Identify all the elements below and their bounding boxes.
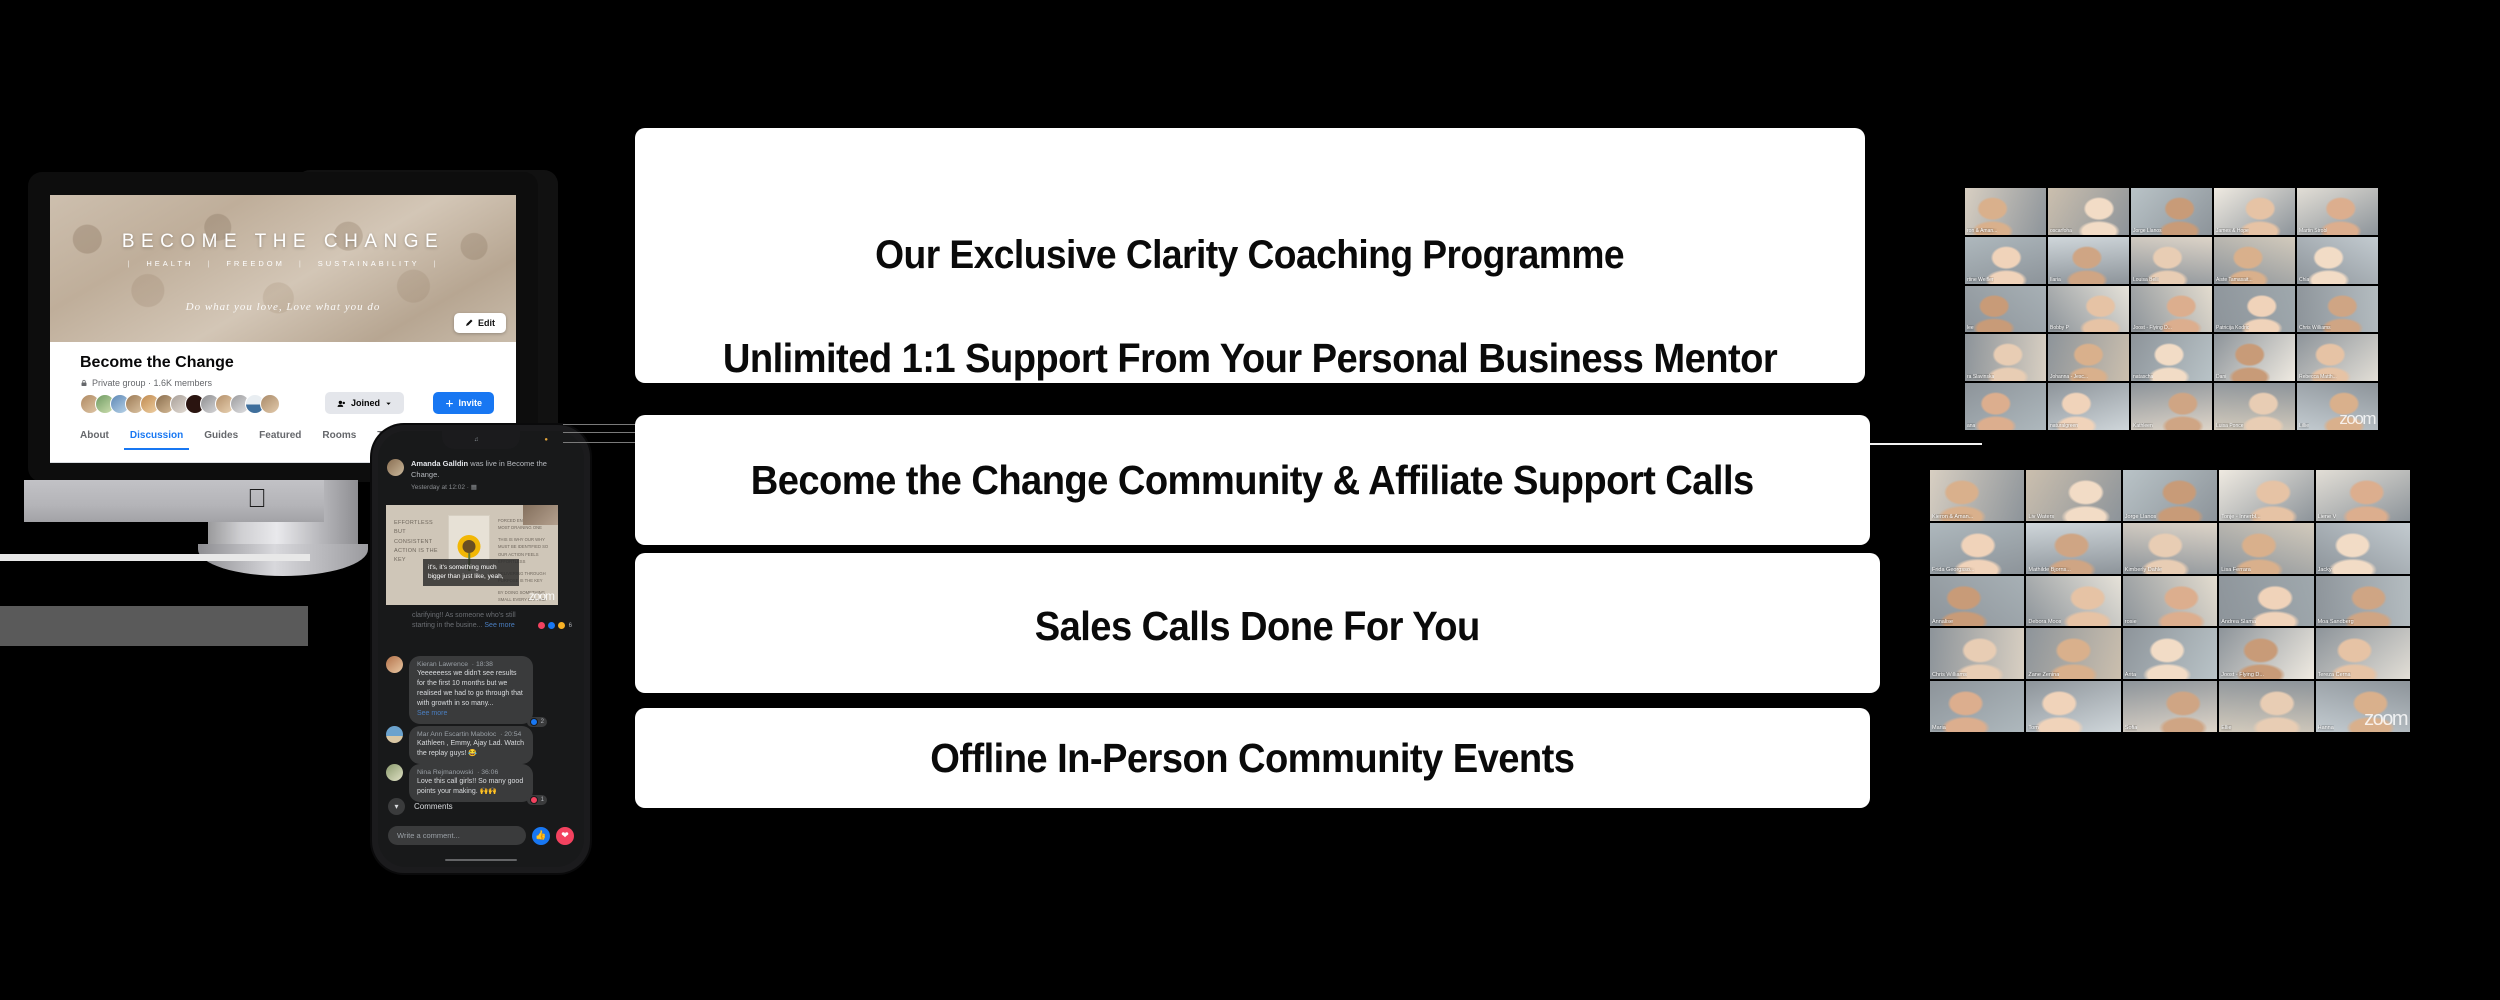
like-reaction-icon <box>547 621 556 630</box>
feature-card-clarity-coaching[interactable]: Our Exclusive Clarity Coaching Programme <box>635 128 1865 383</box>
thumbs-up-icon <box>530 718 538 726</box>
comment-time: 20:54 <box>504 731 521 738</box>
love-reaction-icon <box>537 621 546 630</box>
zoom-participant-tile[interactable]: Johanna - Jesc... <box>2048 334 2129 381</box>
group-meta: Private group · 1.6K members <box>80 378 212 388</box>
group-cover-photo: BECOME THE CHANGE | HEALTH | FREEDOM | S… <box>50 195 516 342</box>
pillar-sustainability: SUSTAINABILITY <box>318 259 420 268</box>
reaction-count: 1 <box>541 797 544 803</box>
feature-title: Become the Change Community & Affiliate … <box>751 457 1754 504</box>
participant-name: Tereza Cerna <box>2318 672 2351 678</box>
participant-name: Maria <box>1932 725 1946 731</box>
zoom-participant-tile[interactable]: Martin Strobl <box>2297 188 2378 235</box>
status-icon: ♫ <box>474 437 479 443</box>
member-avatars[interactable] <box>80 394 280 414</box>
zoom-participant-tile[interactable]: Joost - Flying D... <box>2219 628 2313 679</box>
zoom-participant-tile[interactable]: Frida Georgsso... <box>1930 523 2024 574</box>
participant-name: Ilaria <box>2050 277 2061 283</box>
participant-name: Ellie <box>2221 725 2231 731</box>
comment-author[interactable]: Kieran Lawrence · 18:38 <box>417 661 525 668</box>
zoom-participant-tile[interactable]: oscarfoha <box>2048 188 2129 235</box>
comment-author[interactable]: Mar Ann Escartin Maboloc · 20:54 <box>417 731 525 738</box>
phone-screen: ♫ ● Amanda Galldin was live in Become th… <box>378 431 584 867</box>
zoom-participant-tile[interactable]: Moa Sandberg <box>2316 576 2410 627</box>
comment-avatar[interactable] <box>386 726 403 743</box>
comment-bubble[interactable]: Nina Rejmanowski · 36:06 Love this call … <box>409 764 533 802</box>
reaction-count: 2 <box>541 719 544 725</box>
participant-name: Jacky <box>2318 567 2332 573</box>
participant-name: ron & Aman... <box>1967 228 1997 234</box>
zoom-participant-tile[interactable]: Bobby P <box>2048 286 2129 333</box>
connector-line <box>563 442 638 443</box>
desk-surface-line <box>0 554 310 561</box>
participant-name: Zane Zenina <box>2028 672 2059 678</box>
faded-reactions[interactable]: 6 <box>537 621 572 630</box>
participant-name: rtine Welfler <box>1967 277 1994 283</box>
participant-name: Andrea Slama <box>2221 619 2256 625</box>
imac-screen: BECOME THE CHANGE | HEALTH | FREEDOM | S… <box>50 195 516 463</box>
post-timestamp: Yesterday at 12:02 · ▦ <box>411 483 575 491</box>
participant-name: Luisa Ponce <box>2216 423 2244 429</box>
zoom-gallery-top[interactable]: ron & Aman...oscarfohaJorge LlanosJames … <box>1965 188 2378 430</box>
participant-name: Louisa Belli <box>2133 277 2159 283</box>
plus-icon <box>445 399 454 408</box>
zoom-participant-tile[interactable]: Liv Waters <box>2026 470 2120 521</box>
pip-label <box>524 521 525 525</box>
pillar-freedom: FREEDOM <box>226 259 285 268</box>
zoom-participant-tile[interactable]: Tom <box>2026 681 2120 732</box>
participant-video <box>1965 383 2046 430</box>
participant-name: Aiste Tamasait... <box>2216 277 2253 283</box>
comment-time: 18:38 <box>476 661 493 668</box>
zoom-participant-tile[interactable]: Kathleen <box>2131 383 2212 430</box>
zoom-participant-tile[interactable]: Chla <box>2297 237 2378 284</box>
care-reaction-icon <box>557 621 566 630</box>
participant-video <box>2123 576 2217 627</box>
participant-name: Annalise <box>1932 619 1953 625</box>
zoom-participant-tile[interactable]: Joost - Flying D... <box>2131 286 2212 333</box>
participant-video <box>2026 681 2120 732</box>
zoom-participant-tile[interactable]: Jorge Llanos <box>2131 188 2212 235</box>
thumbs-up-button[interactable]: 👍 <box>532 827 550 845</box>
participant-name: Chris Williams <box>2299 325 2331 331</box>
cover-title: BECOME THE CHANGE <box>50 231 516 253</box>
comment-author-name: Mar Ann Escartin Maboloc <box>417 731 496 738</box>
comment-item: Mar Ann Escartin Maboloc · 20:54 Kathlee… <box>386 726 533 764</box>
joined-button[interactable]: Joined <box>325 392 404 414</box>
comment-bubble[interactable]: Kieran Lawrence · 18:38 Yeeeeeess we did… <box>409 656 533 724</box>
invite-button[interactable]: Invite <box>433 392 494 414</box>
zoom-participant-tile[interactable]: naturalgreen <box>2048 383 2129 430</box>
edit-cover-button[interactable]: Edit <box>454 313 506 333</box>
comments-label: Comments <box>414 802 453 811</box>
zoom-participant-tile[interactable]: natascha <box>2131 334 2212 381</box>
comment-avatar[interactable] <box>386 764 403 781</box>
participant-name: Liv Waters <box>2028 514 2054 520</box>
participant-name: Chla <box>2299 277 2309 283</box>
zoom-participant-tile[interactable]: Lisa Ferrara <box>2219 523 2313 574</box>
zoom-participant-tile[interactable]: Zane Zenina <box>2026 628 2120 679</box>
apple-logo:  <box>247 487 267 511</box>
participant-name: Mathilde Bjorns... <box>2028 567 2071 573</box>
heart-button[interactable]: ❤ <box>556 827 574 845</box>
participant-name: naturalgreen <box>2050 423 2078 429</box>
zoom-participant-tile[interactable]: Annalise <box>1930 576 2024 627</box>
participant-name: Patricija Kodric <box>2216 325 2249 331</box>
zoom-participant-tile[interactable]: Ilaria <box>2048 237 2129 284</box>
canvas: BECOME THE CHANGE | HEALTH | FREEDOM | S… <box>0 0 2500 1000</box>
participant-video <box>2123 628 2217 679</box>
zoom-participant-tile[interactable]: Ellie <box>2219 681 2313 732</box>
tab-rooms[interactable]: Rooms <box>322 430 356 450</box>
zoom-participant-tile[interactable]: Tereza Cerna <box>2316 628 2410 679</box>
zoom-participant-tile[interactable]: Luisa Ponce <box>2214 383 2295 430</box>
joined-label: Joined <box>351 398 380 408</box>
avatar <box>260 394 280 414</box>
participant-name: Martin Strobl <box>2299 228 2327 234</box>
floor-bar <box>0 606 308 646</box>
zoom-participant-tile[interactable]: Tonje - Innerbl... <box>2219 470 2313 521</box>
connector-line-right <box>1868 443 1982 445</box>
zoom-logo: zoom <box>2364 708 2407 731</box>
participant-name: James & Hope <box>2216 228 2249 234</box>
zoom-participant-tile[interactable]: Liene V <box>2316 470 2410 521</box>
home-indicator <box>445 859 517 862</box>
reaction-count: 6 <box>569 623 572 629</box>
participant-name: Johanna - Jesc... <box>2050 374 2088 380</box>
group-name: Become the Change <box>80 354 234 372</box>
participant-video <box>2219 681 2313 732</box>
faded-see-more-link[interactable]: See more <box>484 622 514 629</box>
post-avatar[interactable] <box>387 459 404 476</box>
participant-name: Kathleen <box>2133 423 2153 429</box>
participant-name: Dani <box>2216 374 2226 380</box>
participant-name: Frida Georgsso... <box>1932 567 1975 573</box>
comment-item: Nina Rejmanowski · 36:06 Love this call … <box>386 764 533 802</box>
zoom-participant-tile[interactable]: Kieron & Aman... <box>1930 470 2024 521</box>
connector-line <box>563 424 638 425</box>
post-action: was live in <box>470 459 505 468</box>
zoom-participant-tile[interactable]: Maria <box>1930 681 2024 732</box>
zoom-logo: zoom <box>2339 409 2375 429</box>
pillar-divider: | <box>420 259 453 268</box>
tab-about[interactable]: About <box>80 430 109 450</box>
tab-discussion[interactable]: Discussion <box>130 430 183 450</box>
pillar-health: HEALTH <box>146 259 193 268</box>
comment-author-name: Kieran Lawrence <box>417 661 468 668</box>
connector-line <box>563 432 638 433</box>
comment-text: Kathleen , Emmy, Ajay Lad. Watch the rep… <box>417 739 525 759</box>
invite-label: Invite <box>458 398 482 408</box>
participant-name: Kieron & Aman... <box>1932 514 1973 520</box>
feature-card-sales-calls[interactable]: Sales Calls Done For You <box>635 553 1880 693</box>
group-meta-label: Private group · 1.6K members <box>92 378 212 388</box>
zoom-participant-tile[interactable]: Andrea Slama <box>2219 576 2313 627</box>
tab-featured[interactable]: Featured <box>259 430 301 450</box>
phone-frame: ♫ ● Amanda Galldin was live in Become th… <box>372 425 590 873</box>
chevron-down-icon[interactable]: ▾ <box>388 798 405 815</box>
pencil-icon <box>465 319 473 327</box>
participant-name: Tonje - Innerbl... <box>2221 514 2260 520</box>
sunflower-center <box>463 540 476 553</box>
zoom-participant-tile[interactable]: Aiste Tamasait... <box>2214 237 2295 284</box>
comment-body: Yeeeeeess we didn't see results for the … <box>417 669 525 719</box>
phone-notch <box>442 431 520 449</box>
participant-name: lee <box>1967 325 1974 331</box>
comment-avatar[interactable] <box>386 656 403 673</box>
participant-name: Liene V <box>2318 514 2337 520</box>
zoom-gallery-bottom[interactable]: Kieron & Aman...Liv WatersJorge LlanosTo… <box>1930 470 2410 732</box>
pillar-divider: | <box>113 259 146 268</box>
post-time-label: Yesterday at 12:02 <box>411 484 465 491</box>
participant-name: Chris Williams <box>1932 672 1967 678</box>
comment-text: Yeeeeeess we didn't see results for the … <box>417 670 523 707</box>
participant-name: Arita <box>2125 672 2136 678</box>
zoom-participant-tile[interactable]: ron & Aman... <box>1965 188 2046 235</box>
comment-bubble[interactable]: Mar Ann Escartin Maboloc · 20:54 Kathlee… <box>409 726 533 764</box>
cover-tagline: Do what you love, Love what you do <box>50 301 516 313</box>
picture-in-picture-thumb[interactable] <box>523 505 558 525</box>
participant-name: Lisa Ferrara <box>2221 567 2251 573</box>
zoom-participant-tile[interactable]: rtine Welfler <box>1965 237 2046 284</box>
zoom-participant-tile[interactable]: Chris Williams <box>2297 286 2378 333</box>
participant-name: Rebecca Matth... <box>2299 374 2337 380</box>
feature-title: Our Exclusive Clarity Coaching Programme <box>876 233 1625 278</box>
participant-name: Hanna <box>2318 725 2334 731</box>
imac-chin <box>24 480 324 522</box>
participant-name: natascha <box>2133 374 2153 380</box>
zoom-participant-tile[interactable]: Louisa Belli <box>2131 237 2212 284</box>
participant-name: Kimberly Dahle <box>2125 567 2162 573</box>
zoom-participant-tile[interactable]: Debora Moos <box>2026 576 2120 627</box>
zoom-participant-tile[interactable]: Sofia <box>2123 681 2217 732</box>
pillar-divider: | <box>285 259 318 268</box>
zoom-participant-tile[interactable]: Patricija Kodric <box>2214 286 2295 333</box>
live-caption: it's, it's something much bigger than ju… <box>423 559 519 586</box>
edit-label: Edit <box>478 318 495 328</box>
feature-title: Offline In-Person Community Events <box>930 735 1574 782</box>
participant-name: ra Slavinska <box>1967 374 1994 380</box>
zoom-participant-tile[interactable]: ra Slavinska <box>1965 334 2046 381</box>
comment-author-name: Nina Rejmanowski <box>417 769 473 776</box>
members-icon <box>337 399 346 408</box>
recording-dot-icon: ● <box>544 437 548 443</box>
cover-pillars: | HEALTH | FREEDOM | SUSTAINABILITY | <box>50 259 516 268</box>
comment-composer[interactable]: Write a comment... 👍 ❤ <box>388 826 574 845</box>
participant-name: Jorge Llanos <box>2125 514 2157 520</box>
post-author[interactable]: Amanda Galldin <box>411 459 468 468</box>
comment-author[interactable]: Nina Rejmanowski · 36:06 <box>417 769 525 776</box>
comment-text: Love this call girls!! So many good poin… <box>417 777 525 797</box>
zoom-participant-tile[interactable]: lee <box>1965 286 2046 333</box>
zoom-participant-tile[interactable]: Arita <box>2123 628 2217 679</box>
participant-name: Joost - Flying D... <box>2221 672 2264 678</box>
participant-name: rosie <box>2125 619 2137 625</box>
participant-name: Tom <box>2028 725 2038 731</box>
participant-name: Debora Moos <box>2028 619 2061 625</box>
tab-guides[interactable]: Guides <box>204 430 238 450</box>
participant-video <box>1965 286 2046 333</box>
comments-toggle[interactable]: ▾ Comments <box>388 798 453 815</box>
zoom-participant-tile[interactable]: Jorge Llanos <box>2123 470 2217 521</box>
faded-comment[interactable]: clarifying!! As someone who's still star… <box>412 611 528 631</box>
participant-name: oscarfoha <box>2050 228 2072 234</box>
zoom-participant-tile[interactable]: Rebecca Matth... <box>2297 334 2378 381</box>
participant-name: Jorge Llanos <box>2133 228 2162 234</box>
feature-title: Sales Calls Done For You <box>1035 603 1480 650</box>
comment-input[interactable]: Write a comment... <box>388 826 526 845</box>
comment-time: 36:06 <box>481 769 498 776</box>
participant-name: ana <box>1967 423 1975 429</box>
post-header: Amanda Galldin was live in Become the Ch… <box>387 459 575 491</box>
comment-item: Kieran Lawrence · 18:38 Yeeeeeess we did… <box>386 656 533 724</box>
post-byline: Amanda Galldin was live in Become the Ch… <box>411 459 575 481</box>
see-more-link[interactable]: See more <box>417 710 447 717</box>
heart-icon <box>530 796 538 804</box>
zoom-participant-tile[interactable]: Mathilde Bjorns... <box>2026 523 2120 574</box>
participant-name: Joost - Flying D... <box>2133 325 2172 331</box>
pillar-divider: | <box>193 259 226 268</box>
zoom-participant-tile[interactable]: James & Hope <box>2214 188 2295 235</box>
zoom-watermark: zoom <box>529 589 554 603</box>
zoom-participant-tile[interactable]: ana <box>1965 383 2046 430</box>
zoom-participant-tile[interactable]: Dani <box>2214 334 2295 381</box>
participant-name: Sofia <box>2125 725 2138 731</box>
participant-name: Bobby P <box>2050 325 2069 331</box>
lock-icon <box>80 379 88 387</box>
zoom-participant-tile[interactable]: Jacky <box>2316 523 2410 574</box>
feature-card-offline-events[interactable]: Offline In-Person Community Events <box>635 708 1870 808</box>
chevron-down-icon <box>385 400 392 407</box>
iphone-mockup: ♫ ● Amanda Galldin was live in Become th… <box>372 425 590 873</box>
feature-card-community-calls[interactable]: Become the Change Community & Affiliate … <box>635 415 1870 545</box>
comment-reaction[interactable]: 1 <box>527 795 547 805</box>
zoom-participant-tile[interactable]: Kimberly Dahle <box>2123 523 2217 574</box>
post-media[interactable]: EFFORTLESS BUT CONSISTENT ACTION IS THE … <box>386 505 558 605</box>
participant-name: Moa Sandberg <box>2318 619 2354 625</box>
zoom-participant-tile[interactable]: Chris Williams <box>1930 628 2024 679</box>
zoom-participant-tile[interactable]: rosie <box>2123 576 2217 627</box>
participant-name: Lillie <box>2299 423 2309 429</box>
